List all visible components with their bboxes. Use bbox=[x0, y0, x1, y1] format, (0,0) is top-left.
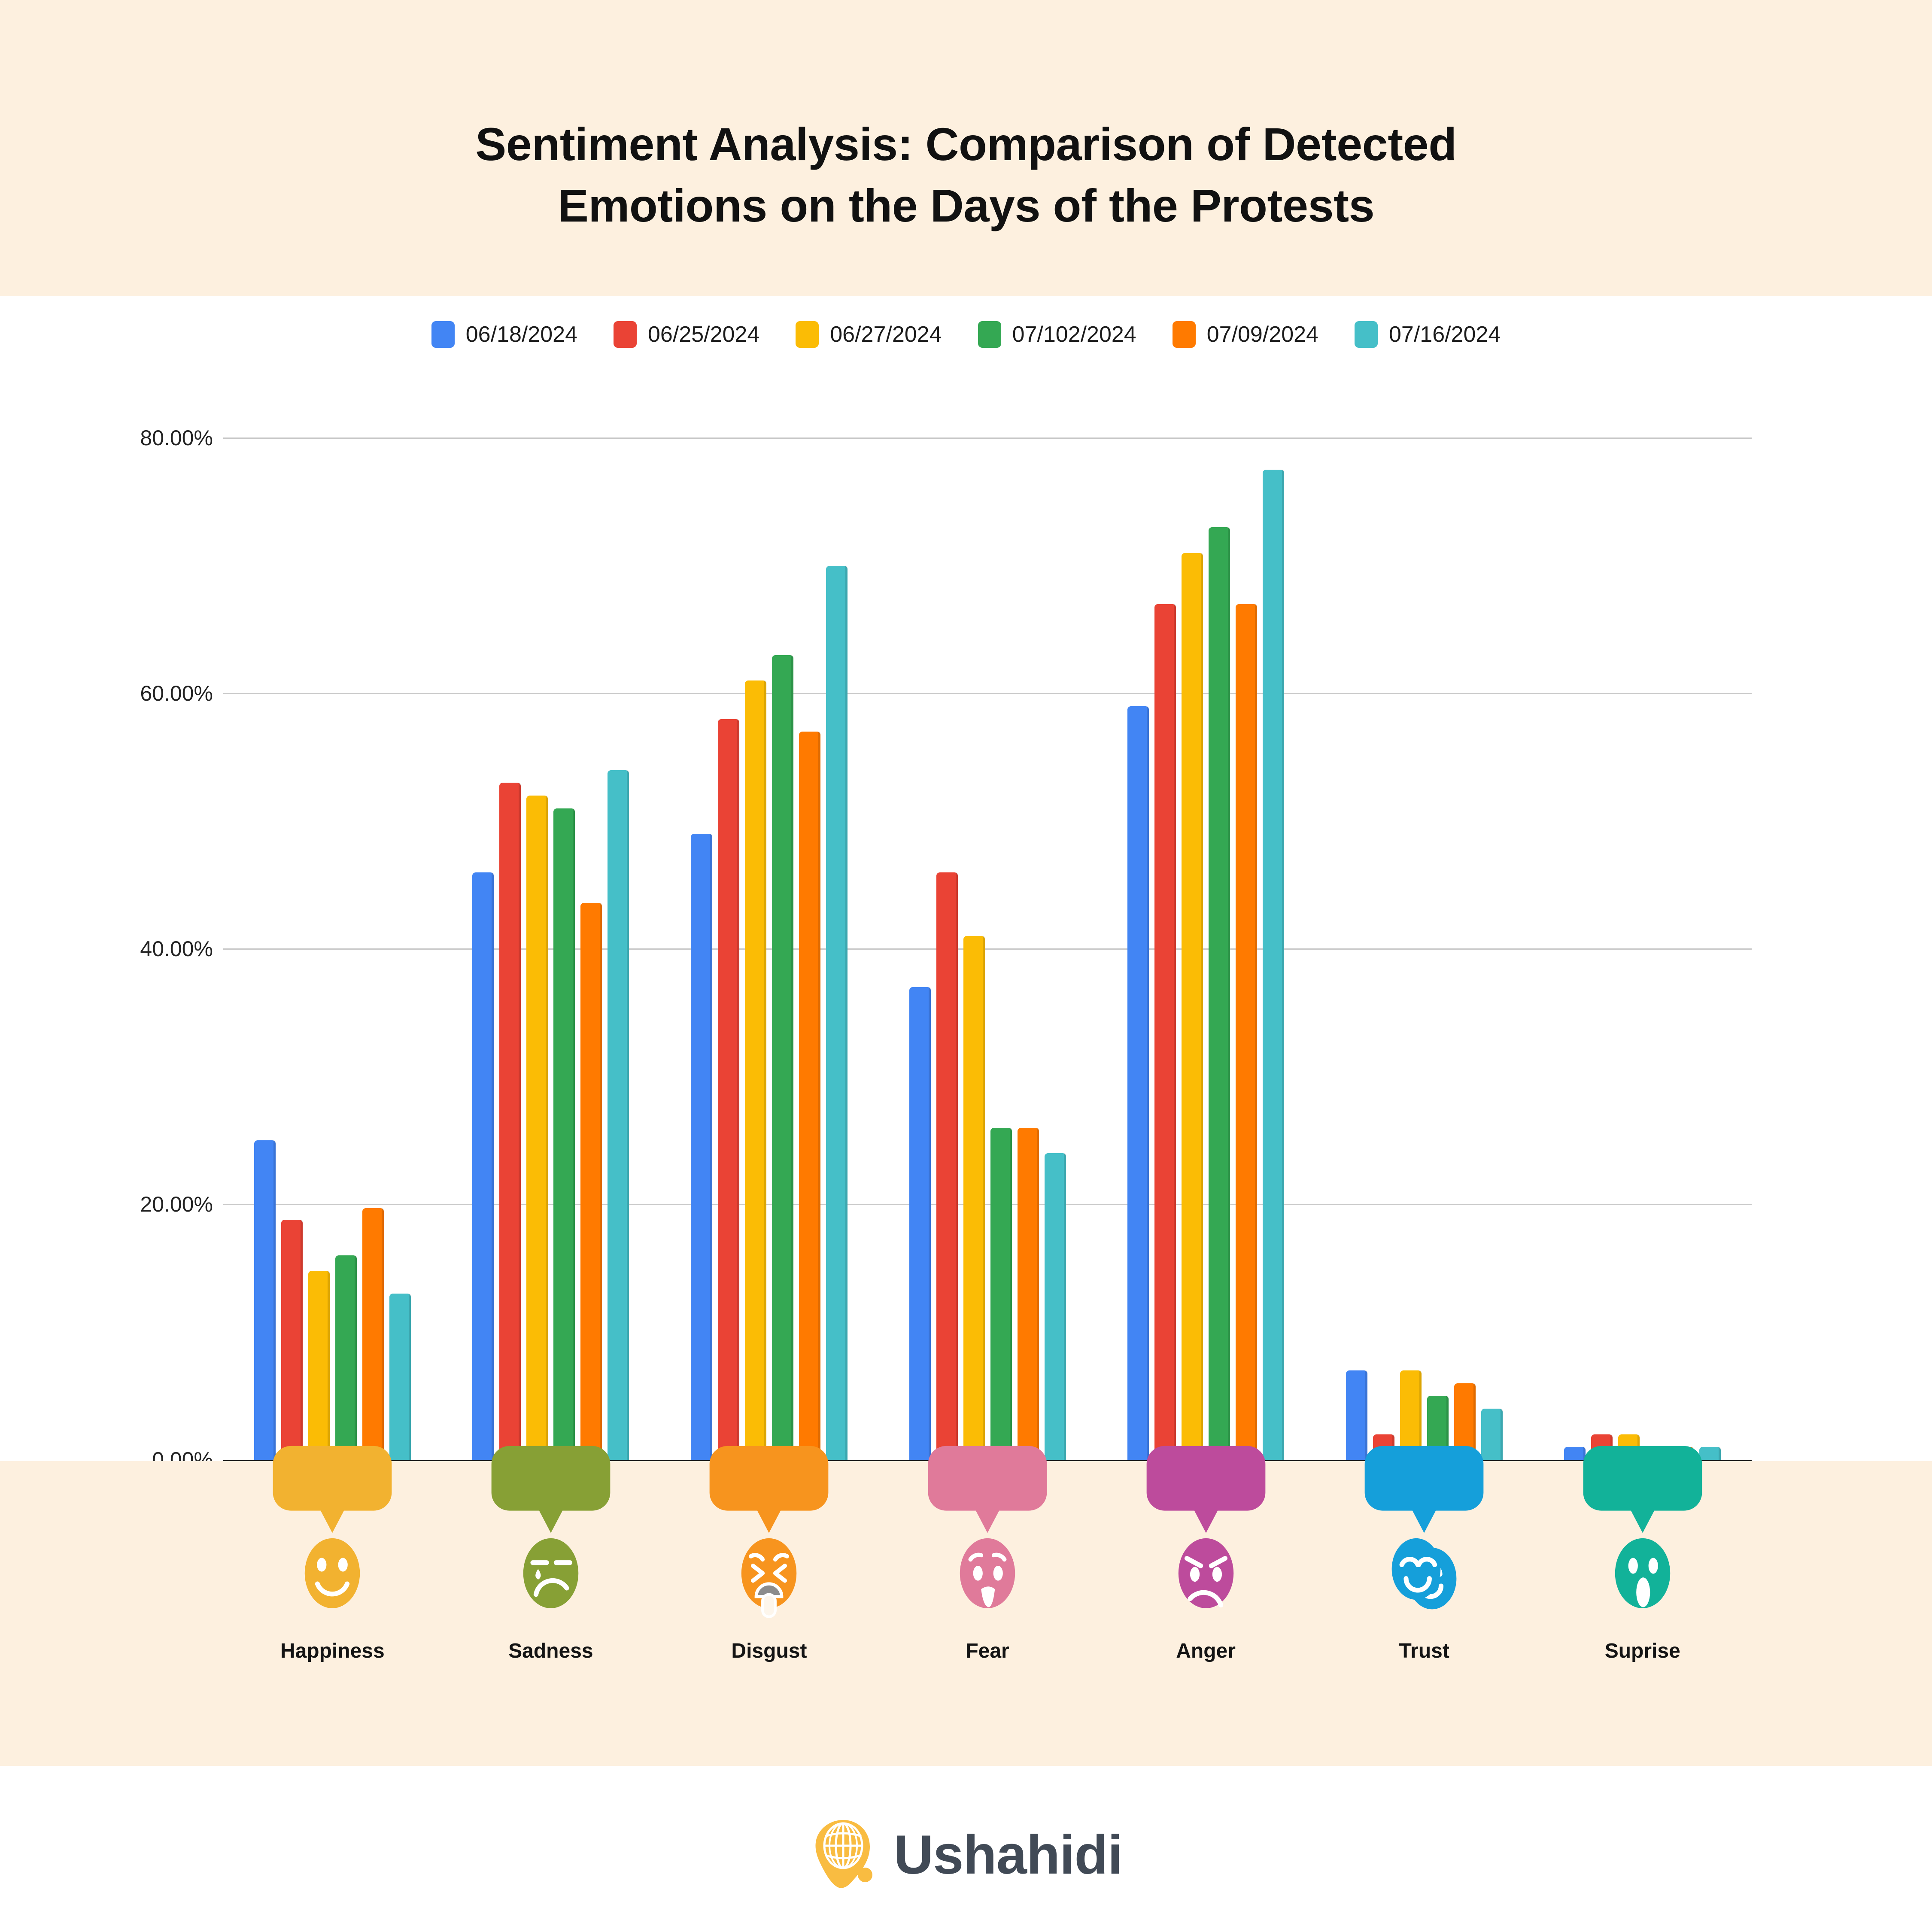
bar-group bbox=[660, 438, 878, 1460]
category-happiness: Happiness bbox=[223, 1461, 442, 1766]
y-axis-tick-label: 60.00% bbox=[140, 681, 213, 706]
chart-legend: 06/18/202406/25/202406/27/202407/102/202… bbox=[0, 321, 1932, 348]
legend-label: 07/102/2024 bbox=[1012, 322, 1136, 347]
bar[interactable] bbox=[936, 872, 958, 1460]
bar[interactable] bbox=[1018, 1128, 1039, 1460]
bar-groups bbox=[223, 438, 1752, 1460]
chart-page: Sentiment Analysis: Comparison of Detect… bbox=[0, 0, 1932, 1932]
bar[interactable] bbox=[1236, 604, 1257, 1460]
bar[interactable] bbox=[1154, 604, 1176, 1460]
legend-swatch bbox=[978, 321, 1001, 348]
bar[interactable] bbox=[335, 1255, 357, 1460]
brand-name: Ushahidi bbox=[894, 1823, 1123, 1886]
x-axis-category-label: Sadness bbox=[508, 1639, 593, 1663]
y-axis-tick-label: 40.00% bbox=[140, 936, 213, 961]
legend-item[interactable]: 06/27/2024 bbox=[796, 321, 942, 348]
bar-group bbox=[1097, 438, 1315, 1460]
bar[interactable] bbox=[553, 808, 575, 1460]
y-axis-tick-label: 80.00% bbox=[140, 425, 213, 450]
bar[interactable] bbox=[963, 936, 985, 1460]
legend-label: 06/25/2024 bbox=[648, 322, 759, 347]
legend-swatch bbox=[614, 321, 637, 348]
category-fear: Fear bbox=[878, 1461, 1097, 1766]
legend-swatch bbox=[1355, 321, 1378, 348]
angry-face-icon bbox=[1142, 1442, 1270, 1622]
bar[interactable] bbox=[580, 903, 602, 1460]
x-axis-category-label: Happiness bbox=[280, 1639, 385, 1663]
title-line-1: Sentiment Analysis: Comparison of Detect… bbox=[0, 114, 1932, 175]
legend-swatch bbox=[431, 321, 455, 348]
bar[interactable] bbox=[472, 872, 494, 1460]
smiling-face-icon bbox=[268, 1442, 397, 1622]
bar-group bbox=[878, 438, 1097, 1460]
bar[interactable] bbox=[362, 1208, 384, 1460]
nauseated-face-icon bbox=[705, 1442, 833, 1622]
bar[interactable] bbox=[499, 783, 521, 1460]
y-axis-labels: 0.00%20.00%40.00%60.00%80.00% bbox=[0, 438, 223, 1460]
x-axis-category-label: Disgust bbox=[731, 1639, 807, 1663]
two-smiling-faces-icon bbox=[1360, 1442, 1488, 1622]
bar[interactable] bbox=[745, 680, 766, 1460]
legend-item[interactable]: 06/25/2024 bbox=[614, 321, 759, 348]
bar[interactable] bbox=[254, 1140, 276, 1460]
category-icons-row: HappinessSadnessDisgustFearAngerTrustSup… bbox=[223, 1461, 1752, 1766]
category-anger: Anger bbox=[1097, 1461, 1315, 1766]
y-axis-tick-label: 20.00% bbox=[140, 1192, 213, 1217]
legend-swatch bbox=[1173, 321, 1196, 348]
bar[interactable] bbox=[608, 770, 629, 1460]
x-axis-category-label: Fear bbox=[966, 1639, 1009, 1663]
crying-face-icon bbox=[486, 1442, 615, 1622]
bar[interactable] bbox=[909, 987, 931, 1460]
bar[interactable] bbox=[718, 719, 739, 1460]
x-axis-category-label: Trust bbox=[1399, 1639, 1449, 1663]
bar[interactable] bbox=[526, 796, 548, 1460]
bar[interactable] bbox=[990, 1128, 1012, 1460]
x-axis-category-label: Suprise bbox=[1605, 1639, 1680, 1663]
surprised-face-icon bbox=[1578, 1442, 1707, 1622]
legend-item[interactable]: 06/18/2024 bbox=[431, 321, 577, 348]
x-axis-category-label: Anger bbox=[1176, 1639, 1236, 1663]
legend-item[interactable]: 07/16/2024 bbox=[1355, 321, 1501, 348]
legend-item[interactable]: 07/102/2024 bbox=[978, 321, 1136, 348]
bar[interactable] bbox=[1263, 470, 1284, 1460]
legend-label: 07/09/2024 bbox=[1207, 322, 1318, 347]
bar[interactable] bbox=[1045, 1153, 1066, 1460]
bar[interactable] bbox=[826, 566, 848, 1460]
bar[interactable] bbox=[1127, 706, 1149, 1460]
bar[interactable] bbox=[1182, 553, 1203, 1460]
bar-group bbox=[1533, 438, 1752, 1460]
bar[interactable] bbox=[281, 1220, 303, 1460]
page-title: Sentiment Analysis: Comparison of Detect… bbox=[0, 114, 1932, 236]
bar-group bbox=[1315, 438, 1534, 1460]
bar[interactable] bbox=[308, 1271, 330, 1460]
bar-group bbox=[223, 438, 442, 1460]
title-line-2: Emotions on the Days of the Protests bbox=[0, 175, 1932, 237]
legend-label: 06/18/2024 bbox=[466, 322, 577, 347]
legend-label: 07/16/2024 bbox=[1389, 322, 1501, 347]
fearful-face-icon bbox=[923, 1442, 1052, 1622]
bar[interactable] bbox=[772, 655, 793, 1460]
legend-item[interactable]: 07/09/2024 bbox=[1173, 321, 1318, 348]
category-trust: Trust bbox=[1315, 1461, 1534, 1766]
category-disgust: Disgust bbox=[660, 1461, 878, 1766]
bar[interactable] bbox=[691, 834, 712, 1460]
ushahidi-globe-icon bbox=[810, 1818, 878, 1891]
category-suprise: Suprise bbox=[1533, 1461, 1752, 1766]
legend-label: 06/27/2024 bbox=[830, 322, 942, 347]
bar[interactable] bbox=[799, 732, 820, 1460]
category-sadness: Sadness bbox=[442, 1461, 660, 1766]
plot-area: 0.00%20.00%40.00%60.00%80.00% bbox=[0, 438, 1932, 1460]
bar[interactable] bbox=[1209, 527, 1230, 1460]
legend-swatch bbox=[796, 321, 819, 348]
bar-group bbox=[442, 438, 660, 1460]
bar[interactable] bbox=[389, 1294, 411, 1460]
footer-logo: Ushahidi bbox=[0, 1777, 1932, 1932]
